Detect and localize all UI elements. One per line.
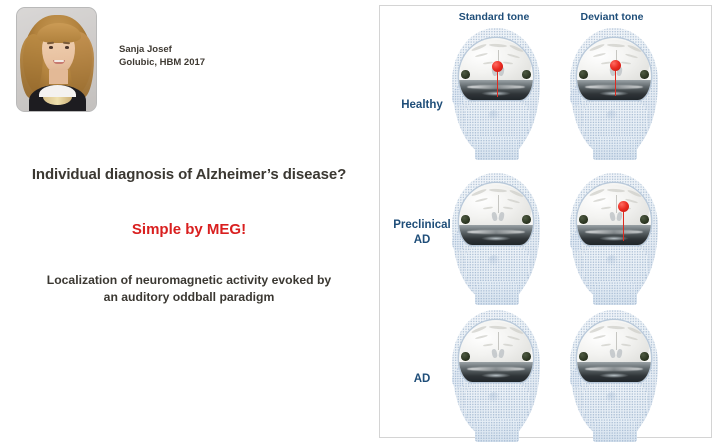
brain-cell-preclinical-deviant: [562, 169, 666, 305]
gyrus-line: [471, 188, 487, 197]
gyrus-line: [593, 334, 606, 339]
photo-eye-left: [49, 46, 53, 49]
slice-base: [459, 362, 533, 382]
meg-sensor-marker-right: [640, 352, 649, 361]
dipole-stem: [497, 71, 499, 97]
meg-sensor-marker-left: [579, 215, 588, 224]
ventricle: [609, 349, 616, 359]
slice-highlight: [599, 236, 629, 241]
gyrus-line: [607, 188, 625, 192]
nose-mesh: [488, 255, 500, 266]
slice-highlight: [481, 373, 511, 378]
meg-sensor-marker-right: [522, 215, 531, 224]
slice-highlight: [585, 367, 643, 371]
gyrus-line: [483, 343, 493, 347]
gyrus-line: [589, 188, 605, 197]
author-name: Sanja Josef: [119, 43, 205, 56]
slice-highlight: [585, 230, 643, 234]
gyrus-line: [601, 343, 611, 347]
gyrus-line: [625, 53, 638, 59]
gyrus-line: [483, 206, 493, 210]
gyrus-line: [607, 43, 625, 47]
gyrus-line: [621, 61, 631, 65]
gyrus-line: [471, 43, 487, 52]
gyrus-line: [503, 61, 513, 65]
dipole-stem: [623, 211, 625, 241]
gyrus-line: [589, 43, 605, 52]
neck-mesh: [475, 419, 519, 442]
head-model: [444, 306, 548, 442]
gyrus-line: [625, 335, 638, 341]
nose-mesh: [488, 392, 500, 403]
head-model: [562, 169, 666, 305]
photo-neck: [49, 70, 68, 84]
author-caption: Sanja Josef Golubic, HBM 2017: [119, 43, 205, 69]
ventricle: [616, 349, 623, 359]
ventricle: [498, 349, 505, 359]
slice-base: [459, 225, 533, 245]
gyrus-line: [503, 343, 513, 347]
brain-tissue: [579, 322, 649, 366]
figure-panel: Standard tone Deviant tone Healthy Precl…: [379, 5, 712, 438]
meg-sensor-marker-left: [579, 352, 588, 361]
meg-sensor-marker-right: [522, 352, 531, 361]
author-affiliation: Golubic, HBM 2017: [119, 56, 205, 69]
meg-sensor-marker-right: [640, 215, 649, 224]
ventricle: [491, 212, 498, 222]
gyrus-line: [593, 52, 606, 57]
brain-midline: [616, 332, 617, 350]
author-block: Sanja Josef Golubic, HBM 2017: [16, 7, 205, 112]
nose-mesh: [606, 110, 618, 121]
slice-highlight: [467, 230, 525, 234]
head-model: [562, 306, 666, 442]
subtitle: Localization of neuromagnetic activity e…: [26, 272, 352, 306]
slice-base: [577, 225, 651, 245]
nose-mesh: [488, 110, 500, 121]
slice-highlight: [599, 373, 629, 378]
brain-midline: [498, 195, 499, 213]
brain-cell-ad-deviant: [562, 306, 666, 442]
neck-mesh: [593, 282, 637, 305]
brain-tissue: [461, 185, 531, 229]
nose-mesh: [606, 392, 618, 403]
gyrus-line: [507, 335, 520, 341]
gyrus-line: [589, 325, 605, 334]
brain-midline: [616, 195, 617, 213]
dipole-sphere: [492, 61, 503, 72]
brain-cell-healthy-deviant: [562, 24, 666, 160]
meg-sensor-marker-right: [522, 70, 531, 79]
ventricle: [498, 212, 505, 222]
subtitle-line-2: an auditory oddball paradigm: [26, 289, 352, 306]
photo-fringe: [37, 23, 81, 43]
dipole-sphere: [618, 201, 629, 212]
ventricle: [491, 349, 498, 359]
gyrus-line: [507, 198, 520, 204]
tagline: Simple by MEG!: [0, 221, 378, 238]
slice-highlight: [467, 367, 525, 371]
brain-cell-ad-standard: [444, 306, 548, 442]
subtitle-line-1: Localization of neuromagnetic activity e…: [26, 272, 352, 289]
neck-mesh: [593, 419, 637, 442]
slice-highlight: [481, 236, 511, 241]
brain-tissue: [461, 322, 531, 366]
meg-sensor-marker-left: [579, 70, 588, 79]
brain-cell-preclinical-standard: [444, 169, 548, 305]
gyrus-line: [489, 43, 507, 47]
gyrus-line: [489, 188, 507, 192]
dipole-sphere: [610, 60, 621, 71]
head-model: [444, 24, 548, 160]
neck-mesh: [593, 137, 637, 160]
ventricle: [609, 212, 616, 222]
dipole-stem: [615, 70, 617, 96]
gyrus-line: [593, 197, 606, 202]
meg-sensor-marker-left: [461, 352, 470, 361]
brain-tissue: [579, 185, 649, 229]
head-model: [562, 24, 666, 160]
nose-mesh: [606, 255, 618, 266]
brain-midline: [498, 332, 499, 350]
column-header-standard-tone: Standard tone: [442, 11, 546, 23]
photo-teeth: [54, 60, 64, 62]
author-photo: [16, 7, 97, 112]
gyrus-line: [507, 53, 520, 59]
brain-cell-healthy-standard: [444, 24, 548, 160]
left-text-column: Sanja Josef Golubic, HBM 2017 Individual…: [0, 0, 378, 445]
page-title: Individual diagnosis of Alzheimer’s dise…: [0, 166, 378, 183]
column-header-deviant-tone: Deviant tone: [560, 11, 664, 23]
meg-sensor-marker-right: [640, 70, 649, 79]
meg-sensor-marker-left: [461, 70, 470, 79]
gyrus-line: [475, 334, 488, 339]
head-model: [444, 169, 548, 305]
meg-sensor-marker-left: [461, 215, 470, 224]
gyrus-line: [601, 206, 611, 210]
neck-mesh: [475, 137, 519, 160]
gyrus-line: [621, 343, 631, 347]
photo-eye-right: [65, 46, 69, 49]
gyrus-line: [489, 325, 507, 329]
gyrus-line: [471, 325, 487, 334]
gyrus-line: [607, 325, 625, 329]
gyrus-line: [475, 197, 488, 202]
photo-collar: [39, 85, 76, 97]
neck-mesh: [475, 282, 519, 305]
gyrus-line: [475, 52, 488, 57]
gyrus-line: [503, 206, 513, 210]
slice-base: [577, 362, 651, 382]
